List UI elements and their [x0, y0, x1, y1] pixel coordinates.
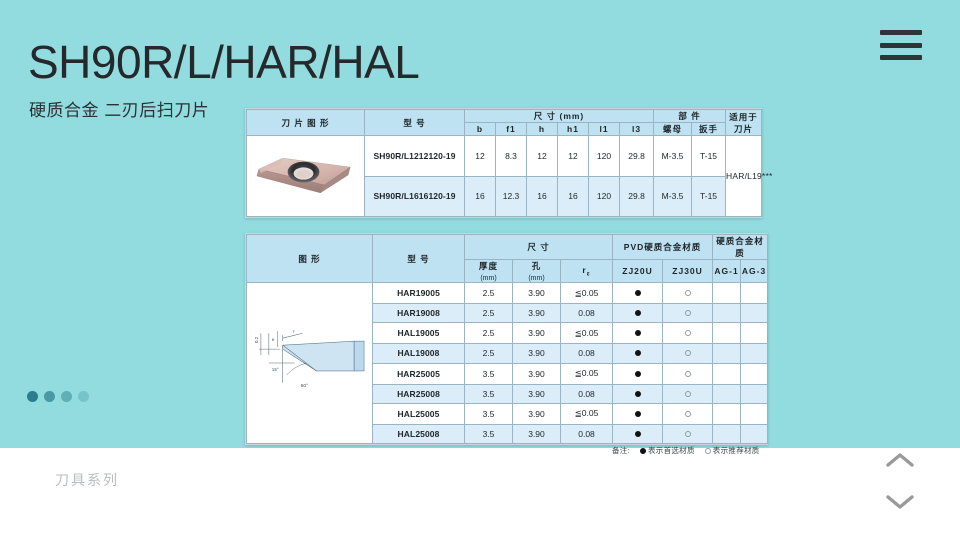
- table-row: SH90R/L1212120-19 12 8.3 12 12 120 29.8 …: [247, 136, 762, 177]
- slide-nav-controls[interactable]: [878, 452, 922, 510]
- t2-r7-re: 0.08: [561, 424, 613, 443]
- t2-r1-thickness: 2.5: [465, 304, 513, 323]
- zj20u-filled-circle-icon: [635, 431, 641, 437]
- t2-r1-ag3: [741, 304, 768, 323]
- t1-col-h: h: [527, 123, 558, 136]
- table-footnote: 备注: 表示首选材质 表示推荐材质: [612, 445, 760, 456]
- t2-r2-ag3: [741, 323, 768, 344]
- t2-r0-ag1: [713, 283, 741, 304]
- t2-r6-ag1: [713, 403, 741, 424]
- t1-header-model: 型 号: [365, 110, 465, 136]
- t2-r3-thickness: 2.5: [465, 344, 513, 363]
- t2-r0-thickness: 2.5: [465, 283, 513, 304]
- t1-r1-l1: 120: [589, 136, 620, 177]
- t2-r4-re: ≦0.05: [561, 363, 613, 384]
- t2-r1-model: HAR19008: [373, 304, 465, 323]
- t1-r1-model: SH90R/L1212120-19: [365, 136, 465, 177]
- t1-r1-l3: 29.8: [620, 136, 654, 177]
- zj30u-open-circle-icon: [685, 330, 691, 336]
- svg-text:e: e: [272, 338, 275, 343]
- page-subtitle: 硬质合金 二刃后扫刀片: [29, 96, 209, 121]
- t2-col-radius: rε: [561, 260, 613, 283]
- t2-r1-hole: 3.90: [513, 304, 561, 323]
- t2-r5-ag3: [741, 384, 768, 403]
- t2-r6-model: HAL25005: [373, 403, 465, 424]
- t2-header-image: 图 形: [247, 235, 373, 283]
- t1-col-l3: l3: [620, 123, 654, 136]
- t1-header-dimensions: 尺 寸 (mm): [465, 110, 654, 123]
- t2-col-hole: 孔 (mm): [513, 260, 561, 283]
- t2-col-radius-sub: ε: [587, 271, 591, 277]
- footnote-preferred: 表示首选材质: [640, 445, 695, 456]
- zj20u-filled-circle-icon: [635, 310, 641, 316]
- zj30u-open-circle-icon: [685, 290, 691, 296]
- t2-r4-hole: 3.90: [513, 363, 561, 384]
- t1-r2-l3: 29.8: [620, 176, 654, 217]
- t2-col-thickness-label: 厚度: [479, 261, 498, 271]
- t2-r2-zj30u: [663, 323, 713, 344]
- hamburger-line-2: [880, 43, 922, 48]
- t2-col-ag3: AG-3: [741, 260, 768, 283]
- t1-header-parts: 部 件: [654, 110, 726, 123]
- t2-col-thickness-unit: (mm): [480, 275, 496, 282]
- t2-r2-hole: 3.90: [513, 323, 561, 344]
- zj20u-filled-circle-icon: [635, 290, 641, 296]
- t2-r2-model: HAL19005: [373, 323, 465, 344]
- t2-r1-zj30u: [663, 304, 713, 323]
- t2-r4-ag1: [713, 363, 741, 384]
- zj20u-filled-circle-icon: [635, 371, 641, 377]
- t2-r4-thickness: 3.5: [465, 363, 513, 384]
- footnote-preferred-label: 表示首选材质: [648, 445, 695, 456]
- hamburger-line-3: [880, 55, 922, 60]
- t1-r1-wrench: T-15: [692, 136, 726, 177]
- zj20u-filled-circle-icon: [635, 330, 641, 336]
- zj30u-open-circle-icon: [685, 310, 691, 316]
- zj30u-open-circle-icon: [685, 371, 691, 377]
- t1-col-wrench: 扳手: [692, 123, 726, 136]
- footnote-prefix: 备注:: [612, 445, 630, 456]
- t1-r1-h1: 12: [558, 136, 589, 177]
- t1-r2-b: 16: [465, 176, 496, 217]
- t2-r3-ag1: [713, 344, 741, 363]
- t1-col-nut: 螺母: [654, 123, 692, 136]
- pagination-dot-1[interactable]: [27, 391, 38, 402]
- t1-col-l1: l1: [589, 123, 620, 136]
- svg-text:0.2: 0.2: [254, 336, 259, 343]
- zj30u-open-circle-icon: [685, 350, 691, 356]
- hamburger-line-1: [880, 30, 922, 35]
- t1-r2-wrench: T-15: [692, 176, 726, 217]
- t1-r1-f1: 8.3: [496, 136, 527, 177]
- t2-r5-thickness: 3.5: [465, 384, 513, 403]
- spec-table-2-card: 图 形 型 号 尺 寸 PVD硬质合金材质 硬质合金材质 厚度 (mm) 孔 (…: [245, 233, 768, 445]
- t2-r0-zj20u: [613, 283, 663, 304]
- t2-header-pvd-group: PVD硬质合金材质: [613, 235, 713, 260]
- t2-r7-zj30u: [663, 424, 713, 443]
- t1-r1-b: 12: [465, 136, 496, 177]
- t1-r2-h1: 16: [558, 176, 589, 217]
- t2-r7-ag1: [713, 424, 741, 443]
- t2-r4-model: HAR25005: [373, 363, 465, 384]
- t2-r5-hole: 3.90: [513, 384, 561, 403]
- t2-r1-zj20u: [613, 304, 663, 323]
- t2-r4-zj30u: [663, 363, 713, 384]
- t2-r6-ag3: [741, 403, 768, 424]
- t2-r3-zj20u: [613, 344, 663, 363]
- hamburger-menu-icon[interactable]: [880, 30, 922, 60]
- zj30u-open-circle-icon: [685, 431, 691, 437]
- t2-r0-hole: 3.90: [513, 283, 561, 304]
- t1-r1-nut: M-3.5: [654, 136, 692, 177]
- filled-circle-icon: [640, 448, 646, 454]
- t2-header-carbide-group: 硬质合金材质: [713, 235, 768, 260]
- page-title: SH90R/L/HAR/HAL: [28, 38, 419, 86]
- spec-table-2: 图 形 型 号 尺 寸 PVD硬质合金材质 硬质合金材质 厚度 (mm) 孔 (…: [246, 234, 768, 444]
- pagination-dot-3[interactable]: [61, 391, 72, 402]
- spec-table-1: 刀 片 图 形 型 号 尺 寸 (mm) 部 件 适用于刀片 b f1 h h1…: [246, 109, 762, 217]
- t1-header-fits: 适用于刀片: [726, 110, 762, 136]
- t2-r3-model: HAL19008: [373, 344, 465, 363]
- t2-r5-re: 0.08: [561, 384, 613, 403]
- t2-r4-zj20u: [613, 363, 663, 384]
- slide-root: SH90R/L/HAR/HAL 硬质合金 二刃后扫刀片 刀 片 图 形 型 号 …: [0, 0, 960, 540]
- t2-r6-hole: 3.90: [513, 403, 561, 424]
- chevron-up-icon[interactable]: [885, 452, 915, 468]
- t1-col-h1: h1: [558, 123, 589, 136]
- t2-r2-re: ≦0.05: [561, 323, 613, 344]
- t2-r7-thickness: 3.5: [465, 424, 513, 443]
- t2-r7-zj20u: [613, 424, 663, 443]
- t2-r5-model: HAR25008: [373, 384, 465, 403]
- pagination-dot-4[interactable]: [78, 391, 89, 402]
- t1-r2-nut: M-3.5: [654, 176, 692, 217]
- t2-r2-thickness: 2.5: [465, 323, 513, 344]
- t2-r7-ag3: [741, 424, 768, 443]
- t1-r2-h: 16: [527, 176, 558, 217]
- spec-table-1-card: 刀 片 图 形 型 号 尺 寸 (mm) 部 件 适用于刀片 b f1 h h1…: [245, 108, 762, 218]
- t2-header-model: 型 号: [373, 235, 465, 283]
- table-row: 0.2 e r 15° 60° HAR190052.53.90≦0.05: [247, 283, 768, 304]
- t1-fits-value: HAR/L19***: [726, 136, 762, 217]
- t1-r1-h: 12: [527, 136, 558, 177]
- t1-r2-f1: 12.3: [496, 176, 527, 217]
- t2-col-hole-label: 孔: [532, 261, 542, 271]
- open-circle-icon: [705, 448, 711, 454]
- t2-r6-thickness: 3.5: [465, 403, 513, 424]
- t1-header-image: 刀 片 图 形: [247, 110, 365, 136]
- t2-r3-hole: 3.90: [513, 344, 561, 363]
- t1-col-f1: f1: [496, 123, 527, 136]
- t2-col-ag1: AG-1: [713, 260, 741, 283]
- t2-r3-ag3: [741, 344, 768, 363]
- zj20u-filled-circle-icon: [635, 411, 641, 417]
- t2-r5-zj30u: [663, 384, 713, 403]
- footer-series-label: 刀具系列: [55, 470, 119, 490]
- t2-header-dimensions: 尺 寸: [465, 235, 613, 260]
- t2-r0-model: HAR19005: [373, 283, 465, 304]
- zj20u-filled-circle-icon: [635, 350, 641, 356]
- t2-r7-hole: 3.90: [513, 424, 561, 443]
- t2-col-zj30u: ZJ30U: [663, 260, 713, 283]
- chevron-down-icon[interactable]: [885, 494, 915, 510]
- t2-r0-zj30u: [663, 283, 713, 304]
- t1-r2-model: SH90R/L1616120-19: [365, 176, 465, 217]
- svg-text:15°: 15°: [272, 367, 279, 372]
- t2-r3-zj30u: [663, 344, 713, 363]
- t2-r6-re: ≦0.05: [561, 403, 613, 424]
- t2-r2-zj20u: [613, 323, 663, 344]
- svg-text:60°: 60°: [301, 383, 309, 389]
- t1-r2-l1: 120: [589, 176, 620, 217]
- t2-r5-ag1: [713, 384, 741, 403]
- t2-r1-re: 0.08: [561, 304, 613, 323]
- svg-text:r: r: [293, 329, 296, 335]
- footnote-recommended: 表示推荐材质: [705, 445, 760, 456]
- t2-r6-zj30u: [663, 403, 713, 424]
- t2-r0-re: ≦0.05: [561, 283, 613, 304]
- t2-r4-ag3: [741, 363, 768, 384]
- footnote-recommended-label: 表示推荐材质: [713, 445, 760, 456]
- t1-col-b: b: [465, 123, 496, 136]
- zj20u-filled-circle-icon: [635, 391, 641, 397]
- pagination-dots[interactable]: [27, 391, 89, 402]
- pagination-dot-2[interactable]: [44, 391, 55, 402]
- t2-r6-zj20u: [613, 403, 663, 424]
- zj30u-open-circle-icon: [685, 391, 691, 397]
- t2-col-thickness: 厚度 (mm): [465, 260, 513, 283]
- t2-r1-ag1: [713, 304, 741, 323]
- t2-r3-re: 0.08: [561, 344, 613, 363]
- zj30u-open-circle-icon: [685, 411, 691, 417]
- t2-col-hole-unit: (mm): [528, 275, 544, 282]
- t2-r5-zj20u: [613, 384, 663, 403]
- insert-3d-image: [247, 136, 365, 217]
- t2-col-zj20u: ZJ20U: [613, 260, 663, 283]
- t2-r2-ag1: [713, 323, 741, 344]
- t2-r7-model: HAL25008: [373, 424, 465, 443]
- t2-r0-ag3: [741, 283, 768, 304]
- insert-geometry-drawing: 0.2 e r 15° 60°: [247, 283, 373, 444]
